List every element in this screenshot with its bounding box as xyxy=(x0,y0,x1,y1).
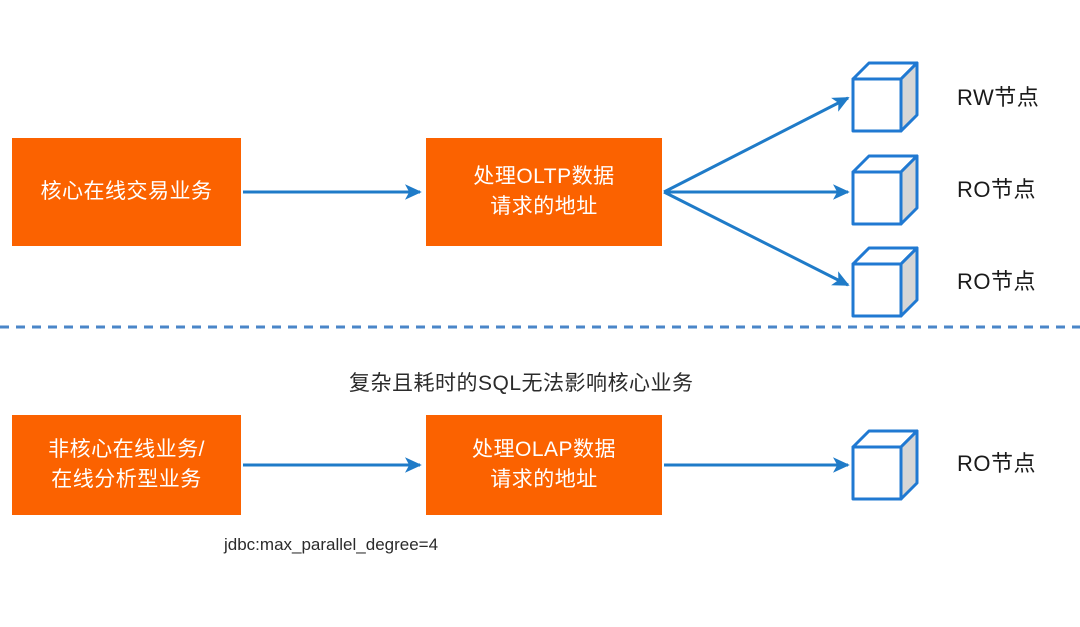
box-olap-router-line-1: 处理OLAP数据 xyxy=(472,435,616,465)
label-ro-node-2: RO节点 xyxy=(957,264,1036,296)
label-ro-node-3-text: RO节点 xyxy=(957,451,1036,476)
cube-icon-ro-node-2[interactable] xyxy=(850,245,920,319)
jdbc-parameter-note: jdbc:max_parallel_degree=4 xyxy=(224,535,438,555)
arrow-oltp-to-ro-node-2 xyxy=(664,192,848,285)
box-olap-router[interactable]: 处理OLAP数据 请求的地址 xyxy=(426,415,662,515)
cube-icon-ro-node-1[interactable] xyxy=(850,153,920,227)
label-ro-node-3: RO节点 xyxy=(957,446,1036,478)
label-ro-node-1-text: RO节点 xyxy=(957,177,1036,202)
box-non-core-analytics-line-1: 非核心在线业务/ xyxy=(48,435,205,465)
box-core-online-transaction-line-1: 核心在线交易业务 xyxy=(41,177,213,207)
label-ro-node-1: RO节点 xyxy=(957,172,1036,204)
label-rw-node: RW节点 xyxy=(957,80,1039,112)
box-oltp-router-line-2: 请求的地址 xyxy=(490,192,598,222)
box-non-core-analytics-line-2: 在线分析型业务 xyxy=(51,465,202,495)
divider-caption: 复杂且耗时的SQL无法影响核心业务 xyxy=(349,367,694,397)
box-oltp-router[interactable]: 处理OLTP数据 请求的地址 xyxy=(426,138,662,246)
cube-icon-ro-node-3[interactable] xyxy=(850,428,920,502)
box-olap-router-line-2: 请求的地址 xyxy=(490,465,598,495)
label-rw-node-text: RW节点 xyxy=(957,85,1039,110)
label-ro-node-2-text: RO节点 xyxy=(957,269,1036,294)
box-core-online-transaction[interactable]: 核心在线交易业务 xyxy=(12,138,241,246)
jdbc-parameter-note-text: jdbc:max_parallel_degree=4 xyxy=(224,535,438,554)
diagram-canvas: 核心在线交易业务 处理OLTP数据 请求的地址 RW节点 RO节点 xyxy=(0,0,1080,627)
divider-caption-text: 复杂且耗时的SQL无法影响核心业务 xyxy=(349,372,694,395)
cube-icon-rw-node[interactable] xyxy=(850,60,920,134)
arrow-oltp-to-rw-node xyxy=(664,98,848,192)
box-oltp-router-line-1: 处理OLTP数据 xyxy=(473,162,614,192)
box-non-core-analytics[interactable]: 非核心在线业务/ 在线分析型业务 xyxy=(12,415,241,515)
